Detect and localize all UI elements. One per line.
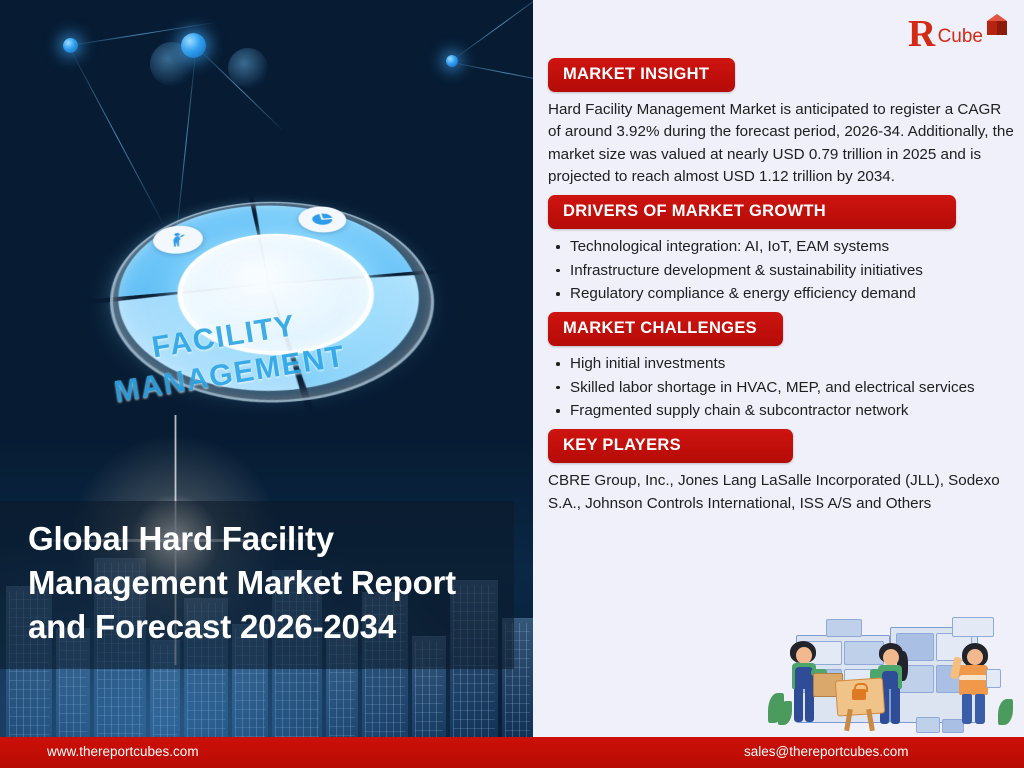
section-market-insight: MARKET INSIGHT Hard Facility Management … — [548, 58, 1014, 188]
logo-wordmark: Cube — [938, 26, 983, 48]
footer-website[interactable]: www.thereportcubes.com — [47, 744, 199, 759]
list-item: Technological integration: AI, IoT, EAM … — [568, 236, 1014, 258]
infographic-page: FACILITY MANAGEMENT Global Hard Facility… — [0, 0, 1024, 768]
logo-r-mark: Я — [908, 17, 935, 52]
list-item: Infrastructure development & sustainabil… — [568, 260, 1014, 282]
footer-bar: www.thereportcubes.com sales@thereportcu… — [0, 737, 1024, 768]
sections-list: MARKET INSIGHT Hard Facility Management … — [548, 58, 1014, 522]
hero-visual-panel: FACILITY MANAGEMENT Global Hard Facility… — [0, 0, 533, 737]
drivers-bullet-list: Technological integration: AI, IoT, EAM … — [548, 236, 1014, 305]
plant-decoration — [778, 701, 792, 725]
section-badge-challenges: MARKET CHALLENGES — [548, 312, 783, 346]
section-body-market-insight: Hard Facility Management Market is antic… — [548, 99, 1014, 188]
section-badge-drivers: DRIVERS OF MARKET GROWTH — [548, 195, 956, 229]
cube-icon — [984, 14, 1010, 44]
network-node — [150, 42, 194, 86]
title-overlay: Global Hard Facility Management Market R… — [0, 501, 514, 669]
section-key-players: KEY PLAYERS CBRE Group, Inc., Jones Lang… — [548, 429, 1014, 515]
page-title: Global Hard Facility Management Market R… — [28, 517, 492, 649]
plant-decoration — [998, 699, 1013, 725]
content-panel: Я Cube MARKET INSIGHT Hard Facility Mana… — [533, 0, 1024, 737]
warehouse-illustration — [766, 617, 1016, 737]
brand-logo[interactable]: Я Cube — [908, 8, 1010, 52]
section-body-key-players: CBRE Group, Inc., Jones Lang LaSalle Inc… — [548, 470, 1014, 515]
network-node — [63, 38, 78, 53]
list-item: Fragmented supply chain & subcontractor … — [568, 400, 1014, 422]
section-market-challenges: MARKET CHALLENGES High initial investmen… — [548, 312, 1014, 422]
footer-email[interactable]: sales@thereportcubes.com — [744, 744, 909, 759]
network-node — [228, 48, 268, 88]
list-item: Skilled labor shortage in HVAC, MEP, and… — [568, 377, 1014, 399]
section-badge-market-insight: MARKET INSIGHT — [548, 58, 735, 92]
list-item: High initial investments — [568, 353, 1014, 375]
list-item: Regulatory compliance & energy efficienc… — [568, 283, 1014, 305]
challenges-bullet-list: High initial investments Skilled labor s… — [548, 353, 1014, 422]
section-badge-key-players: KEY PLAYERS — [548, 429, 793, 463]
network-node — [446, 55, 458, 67]
section-drivers-of-market-growth: DRIVERS OF MARKET GROWTH Technological i… — [548, 195, 1014, 305]
